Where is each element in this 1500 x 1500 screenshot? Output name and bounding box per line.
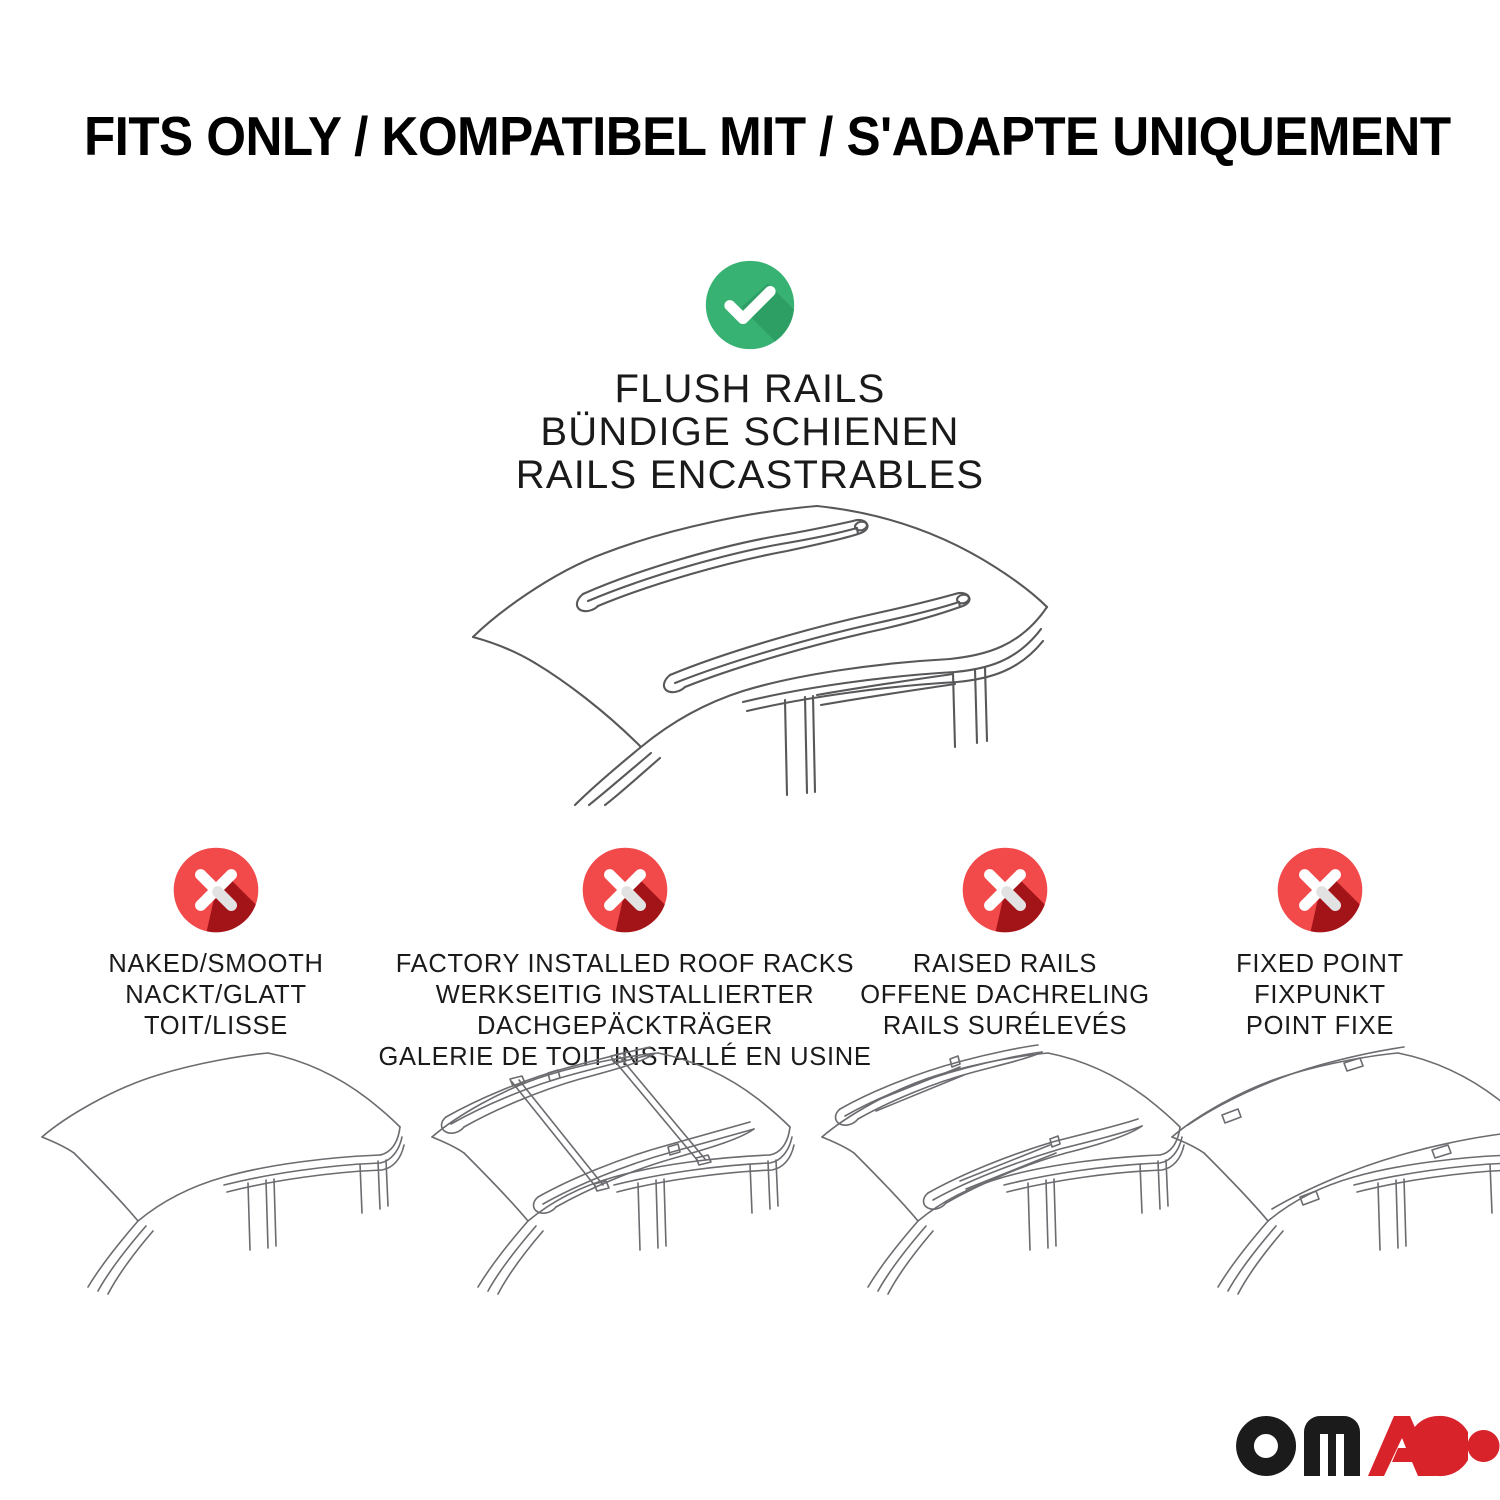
car-roof-factory-racks-drawing (420, 1045, 810, 1295)
incompatible-section: NAKED/SMOOTH NACKT/GLATT TOIT/LISSE FACT… (0, 845, 1500, 1055)
x-circle-icon (580, 845, 670, 935)
car-roof-raised-rails-drawing (810, 1045, 1200, 1295)
compatible-label-de: BÜNDIGE SCHIENEN (516, 411, 984, 454)
compatible-labels: FLUSH RAILS BÜNDIGE SCHIENEN RAILS ENCAS… (516, 368, 984, 498)
omac-logo (1232, 1412, 1468, 1484)
car-roof-fixed-point-drawing (1160, 1045, 1500, 1295)
car-roof-flush-rails-drawing (455, 495, 1055, 805)
logo-letter-o (1236, 1416, 1296, 1476)
x-circle-icon (171, 845, 261, 935)
label-fr: RAILS SURÉLEVÉS (860, 1011, 1150, 1042)
label-de-1: WERKSEITIG INSTALLIERTER (378, 980, 871, 1011)
label-fr: TOIT/LISSE (108, 1011, 323, 1042)
compatible-label-fr: RAILS ENCASTRABLES (516, 454, 984, 497)
roof-illustrations-row (0, 1045, 1500, 1295)
label-de: OFFENE DACHRELING (860, 980, 1150, 1011)
logo-letter-c (1408, 1416, 1499, 1476)
compatible-section: FLUSH RAILS BÜNDIGE SCHIENEN RAILS ENCAS… (0, 258, 1500, 498)
x-circle-icon (960, 845, 1050, 935)
compatible-label-en: FLUSH RAILS (516, 368, 984, 411)
label-en: NAKED/SMOOTH (108, 949, 323, 980)
incompatible-labels-naked-smooth: NAKED/SMOOTH NACKT/GLATT TOIT/LISSE (108, 949, 323, 1042)
label-en: RAISED RAILS (860, 949, 1150, 980)
car-roof-naked-smooth-drawing (30, 1045, 420, 1295)
label-de: FIXPUNKT (1236, 980, 1404, 1011)
check-circle-icon (703, 258, 797, 352)
incompatible-labels-raised-rails: RAISED RAILS OFFENE DACHRELING RAILS SUR… (860, 949, 1150, 1042)
incompatible-column-naked-smooth: NAKED/SMOOTH NACKT/GLATT TOIT/LISSE (60, 845, 372, 1042)
incompatible-column-fixed-point: FIXED POINT FIXPUNKT POINT FIXE (1175, 845, 1465, 1042)
label-en: FIXED POINT (1236, 949, 1404, 980)
label-en: FACTORY INSTALLED ROOF RACKS (378, 949, 871, 980)
incompatible-labels-fixed-point: FIXED POINT FIXPUNKT POINT FIXE (1236, 949, 1404, 1042)
incompatible-column-raised-rails: RAISED RAILS OFFENE DACHRELING RAILS SUR… (845, 845, 1165, 1042)
label-fr: POINT FIXE (1236, 1011, 1404, 1042)
x-circle-icon (1275, 845, 1365, 935)
page-title: FITS ONLY / KOMPATIBEL MIT / S'ADAPTE UN… (84, 109, 1451, 164)
incompatible-column-factory-racks: FACTORY INSTALLED ROOF RACKS WERKSEITIG … (400, 845, 850, 1073)
logo-letter-m (1304, 1416, 1360, 1476)
label-de: NACKT/GLATT (108, 980, 323, 1011)
page-header: FITS ONLY / KOMPATIBEL MIT / S'ADAPTE UN… (84, 104, 1424, 168)
label-de-2: DACHGEPÄCKTRÄGER (378, 1011, 871, 1042)
